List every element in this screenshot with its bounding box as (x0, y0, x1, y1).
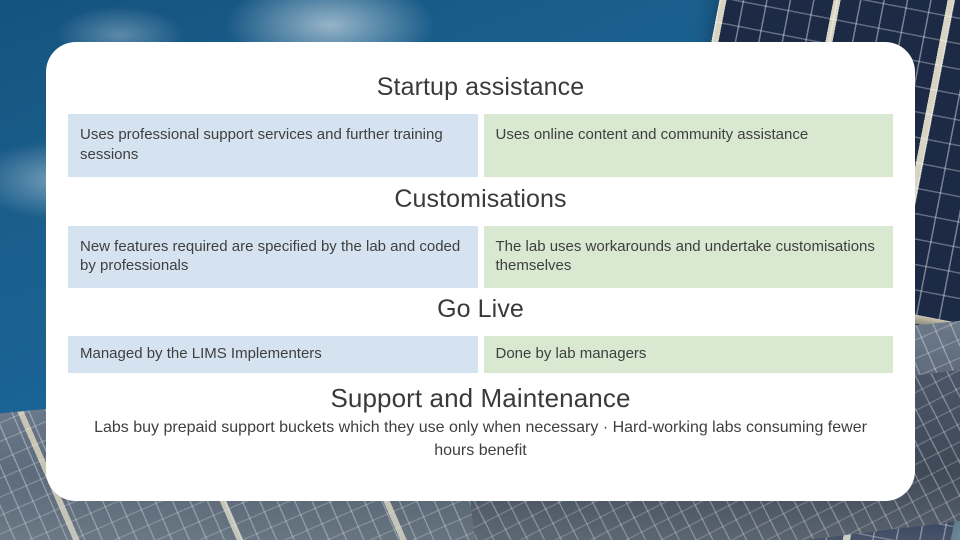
section-title-go-live: Go Live (68, 294, 893, 324)
startup-assistance-right-cell: Uses online content and community assist… (484, 114, 894, 177)
go-live-right-cell: Done by lab managers (484, 336, 894, 373)
customisations-left-cell: New features required are specified by t… (68, 226, 478, 289)
customisations-right-cell: The lab uses workarounds and undertake c… (484, 226, 894, 289)
section-title-support-and-maintenance: Support and Maintenance (68, 383, 893, 414)
section-title-startup-assistance: Startup assistance (68, 72, 893, 102)
section-title-customisations: Customisations (68, 184, 893, 214)
content-card: Startup assistance Uses professional sup… (46, 42, 915, 501)
comparison-row-customisations: New features required are specified by t… (68, 226, 893, 289)
go-live-left-cell: Managed by the LIMS Implementers (68, 336, 478, 373)
comparison-row-go-live: Managed by the LIMS Implementers Done by… (68, 336, 893, 373)
support-and-maintenance-text: Labs buy prepaid support buckets which t… (68, 417, 893, 462)
comparison-row-startup-assistance: Uses professional support services and f… (68, 114, 893, 177)
startup-assistance-left-cell: Uses professional support services and f… (68, 114, 478, 177)
